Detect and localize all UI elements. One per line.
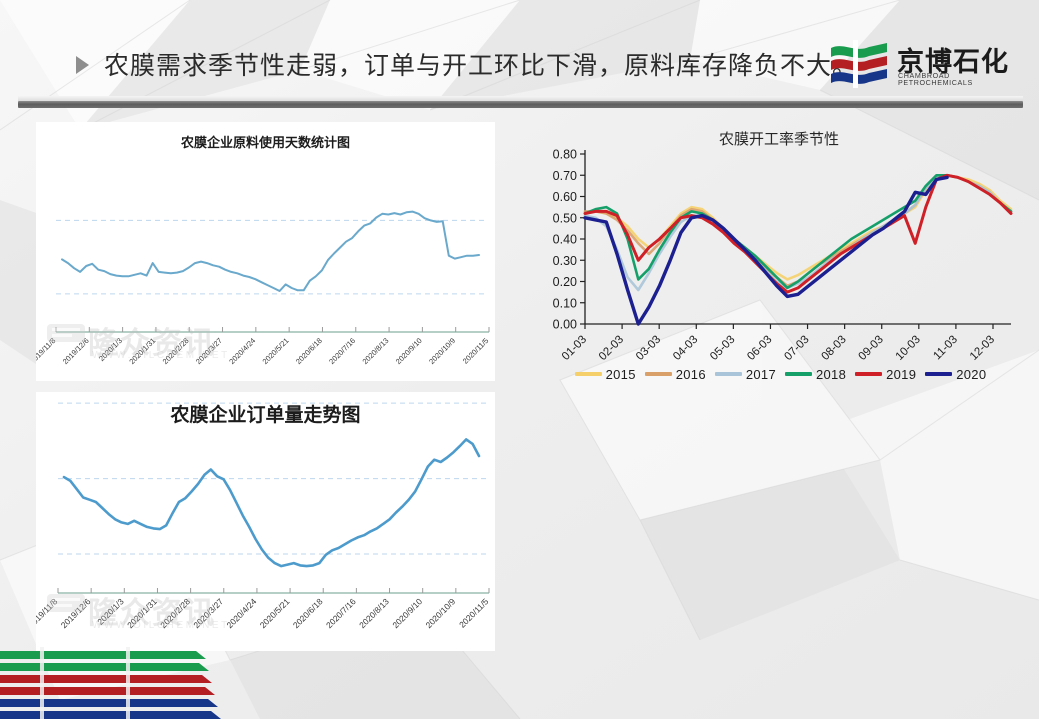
svg-text:2020/3/27: 2020/3/27	[191, 596, 225, 630]
svg-text:2019/12/6: 2019/12/6	[61, 336, 91, 366]
svg-text:06-03: 06-03	[745, 334, 774, 363]
svg-text:2020/10/9: 2020/10/9	[423, 596, 457, 630]
svg-text:2020/11/5: 2020/11/5	[461, 336, 491, 366]
header-divider	[18, 101, 1023, 108]
svg-text:08-03: 08-03	[819, 334, 848, 363]
legend-swatch-2016	[645, 372, 672, 376]
svg-text:0.30: 0.30	[553, 254, 577, 268]
slide-header: 农膜需求季节性走弱，订单与开工环比下滑，原料库存降负不大。 京博石化 CHAMB…	[0, 0, 1039, 100]
chart-legend: 201520162017201820192020	[543, 363, 1018, 385]
svg-text:2020/2/28: 2020/2/28	[158, 596, 192, 630]
svg-text:0.00: 0.00	[553, 318, 577, 332]
svg-text:2020/4/24: 2020/4/24	[227, 336, 257, 366]
svg-text:2020/8/13: 2020/8/13	[357, 596, 391, 630]
svg-text:2020/7/16: 2020/7/16	[324, 596, 358, 630]
legend-label-2017: 2017	[746, 367, 776, 382]
legend-label-2020: 2020	[956, 367, 986, 382]
logo-name-en: CHAMBROAD PETROCHEMICALS	[898, 73, 1021, 87]
chambroad-wave-logo-icon	[829, 40, 891, 88]
svg-text:2020/1/3: 2020/1/3	[97, 336, 124, 363]
svg-text:2020/11/5: 2020/11/5	[457, 596, 491, 630]
svg-text:2020/7/16: 2020/7/16	[327, 336, 357, 366]
svg-text:2020/6/18: 2020/6/18	[291, 596, 325, 630]
svg-text:2020/1/3: 2020/1/3	[95, 596, 126, 627]
legend-label-2016: 2016	[676, 367, 706, 382]
line-chart-operating-rate-seasonality: 0.800.700.600.500.400.300.200.100.0001-0…	[533, 142, 1025, 382]
legend-label-2018: 2018	[816, 367, 846, 382]
line-chart-raw-material-days: 2019/11/82019/12/62020/1/32020/1/312020/…	[36, 122, 495, 381]
svg-text:04-03: 04-03	[671, 334, 700, 363]
chart-panel-raw-material-days: 农膜企业原料使用天数统计图 2019/11/82019/12/62020/1/3…	[36, 122, 495, 381]
svg-text:2019/11/8: 2019/11/8	[36, 336, 57, 366]
legend-swatch-2015	[575, 372, 602, 376]
company-logo: 京博石化 CHAMBROAD PETROCHEMICALS	[829, 38, 1019, 90]
svg-text:2019/12/6: 2019/12/6	[59, 596, 93, 630]
svg-text:03-03: 03-03	[634, 334, 663, 363]
legend-swatch-2017	[715, 372, 742, 376]
svg-text:2020/1/31: 2020/1/31	[127, 336, 157, 366]
svg-text:2020/5/21: 2020/5/21	[258, 596, 292, 630]
legend-item-2020[interactable]: 2020	[925, 367, 986, 382]
triangle-right-icon	[76, 56, 89, 74]
legend-swatch-2019	[855, 372, 882, 376]
svg-text:2020/5/21: 2020/5/21	[261, 336, 291, 366]
svg-text:0.10: 0.10	[553, 296, 577, 310]
chambroad-ribbon-icon	[0, 647, 300, 719]
svg-text:12-03: 12-03	[968, 334, 997, 363]
legend-item-2018[interactable]: 2018	[785, 367, 846, 382]
svg-text:2020/9/10: 2020/9/10	[394, 336, 424, 366]
legend-swatch-2018	[785, 372, 812, 376]
svg-text:2020/8/13: 2020/8/13	[361, 336, 391, 366]
svg-text:05-03: 05-03	[708, 334, 737, 363]
svg-text:0.70: 0.70	[553, 169, 577, 183]
svg-text:2019/11/8: 2019/11/8	[36, 596, 60, 630]
svg-text:0.20: 0.20	[553, 275, 577, 289]
line-chart-order-volume: 2019/11/82019/12/62020/1/32020/1/312020/…	[36, 392, 495, 651]
legend-label-2015: 2015	[606, 367, 636, 382]
svg-text:0.40: 0.40	[553, 233, 577, 247]
svg-text:11-03: 11-03	[931, 334, 960, 363]
svg-text:0.50: 0.50	[553, 211, 577, 225]
svg-text:10-03: 10-03	[894, 334, 923, 363]
svg-text:2020/4/24: 2020/4/24	[225, 596, 259, 630]
chart-panel-operating-rate-seasonality: 农膜开工率季节性 0.800.700.600.500.400.300.200.1…	[533, 128, 1025, 390]
svg-text:2020/6/18: 2020/6/18	[294, 336, 324, 366]
svg-text:0.80: 0.80	[553, 148, 577, 162]
legend-swatch-2020	[925, 372, 952, 376]
svg-text:2020/1/31: 2020/1/31	[125, 596, 159, 630]
page-title: 农膜需求季节性走弱，订单与开工环比下滑，原料库存降负不大。	[104, 46, 858, 82]
svg-text:2020/2/28: 2020/2/28	[161, 336, 191, 366]
svg-text:02-03: 02-03	[597, 334, 626, 363]
legend-item-2017[interactable]: 2017	[715, 367, 776, 382]
legend-item-2016[interactable]: 2016	[645, 367, 706, 382]
legend-item-2015[interactable]: 2015	[575, 367, 636, 382]
legend-label-2019: 2019	[886, 367, 916, 382]
svg-text:07-03: 07-03	[782, 334, 811, 363]
svg-text:0.60: 0.60	[553, 190, 577, 204]
chart-panel-order-volume: 农膜企业订单量走势图 2019/11/82019/12/62020/1/3202…	[36, 392, 495, 651]
svg-text:2020/10/9: 2020/10/9	[427, 336, 457, 366]
svg-text:01-03: 01-03	[560, 334, 589, 363]
svg-text:09-03: 09-03	[857, 334, 886, 363]
legend-item-2019[interactable]: 2019	[855, 367, 916, 382]
svg-text:2020/3/27: 2020/3/27	[194, 336, 224, 366]
svg-text:2020/9/10: 2020/9/10	[390, 596, 424, 630]
